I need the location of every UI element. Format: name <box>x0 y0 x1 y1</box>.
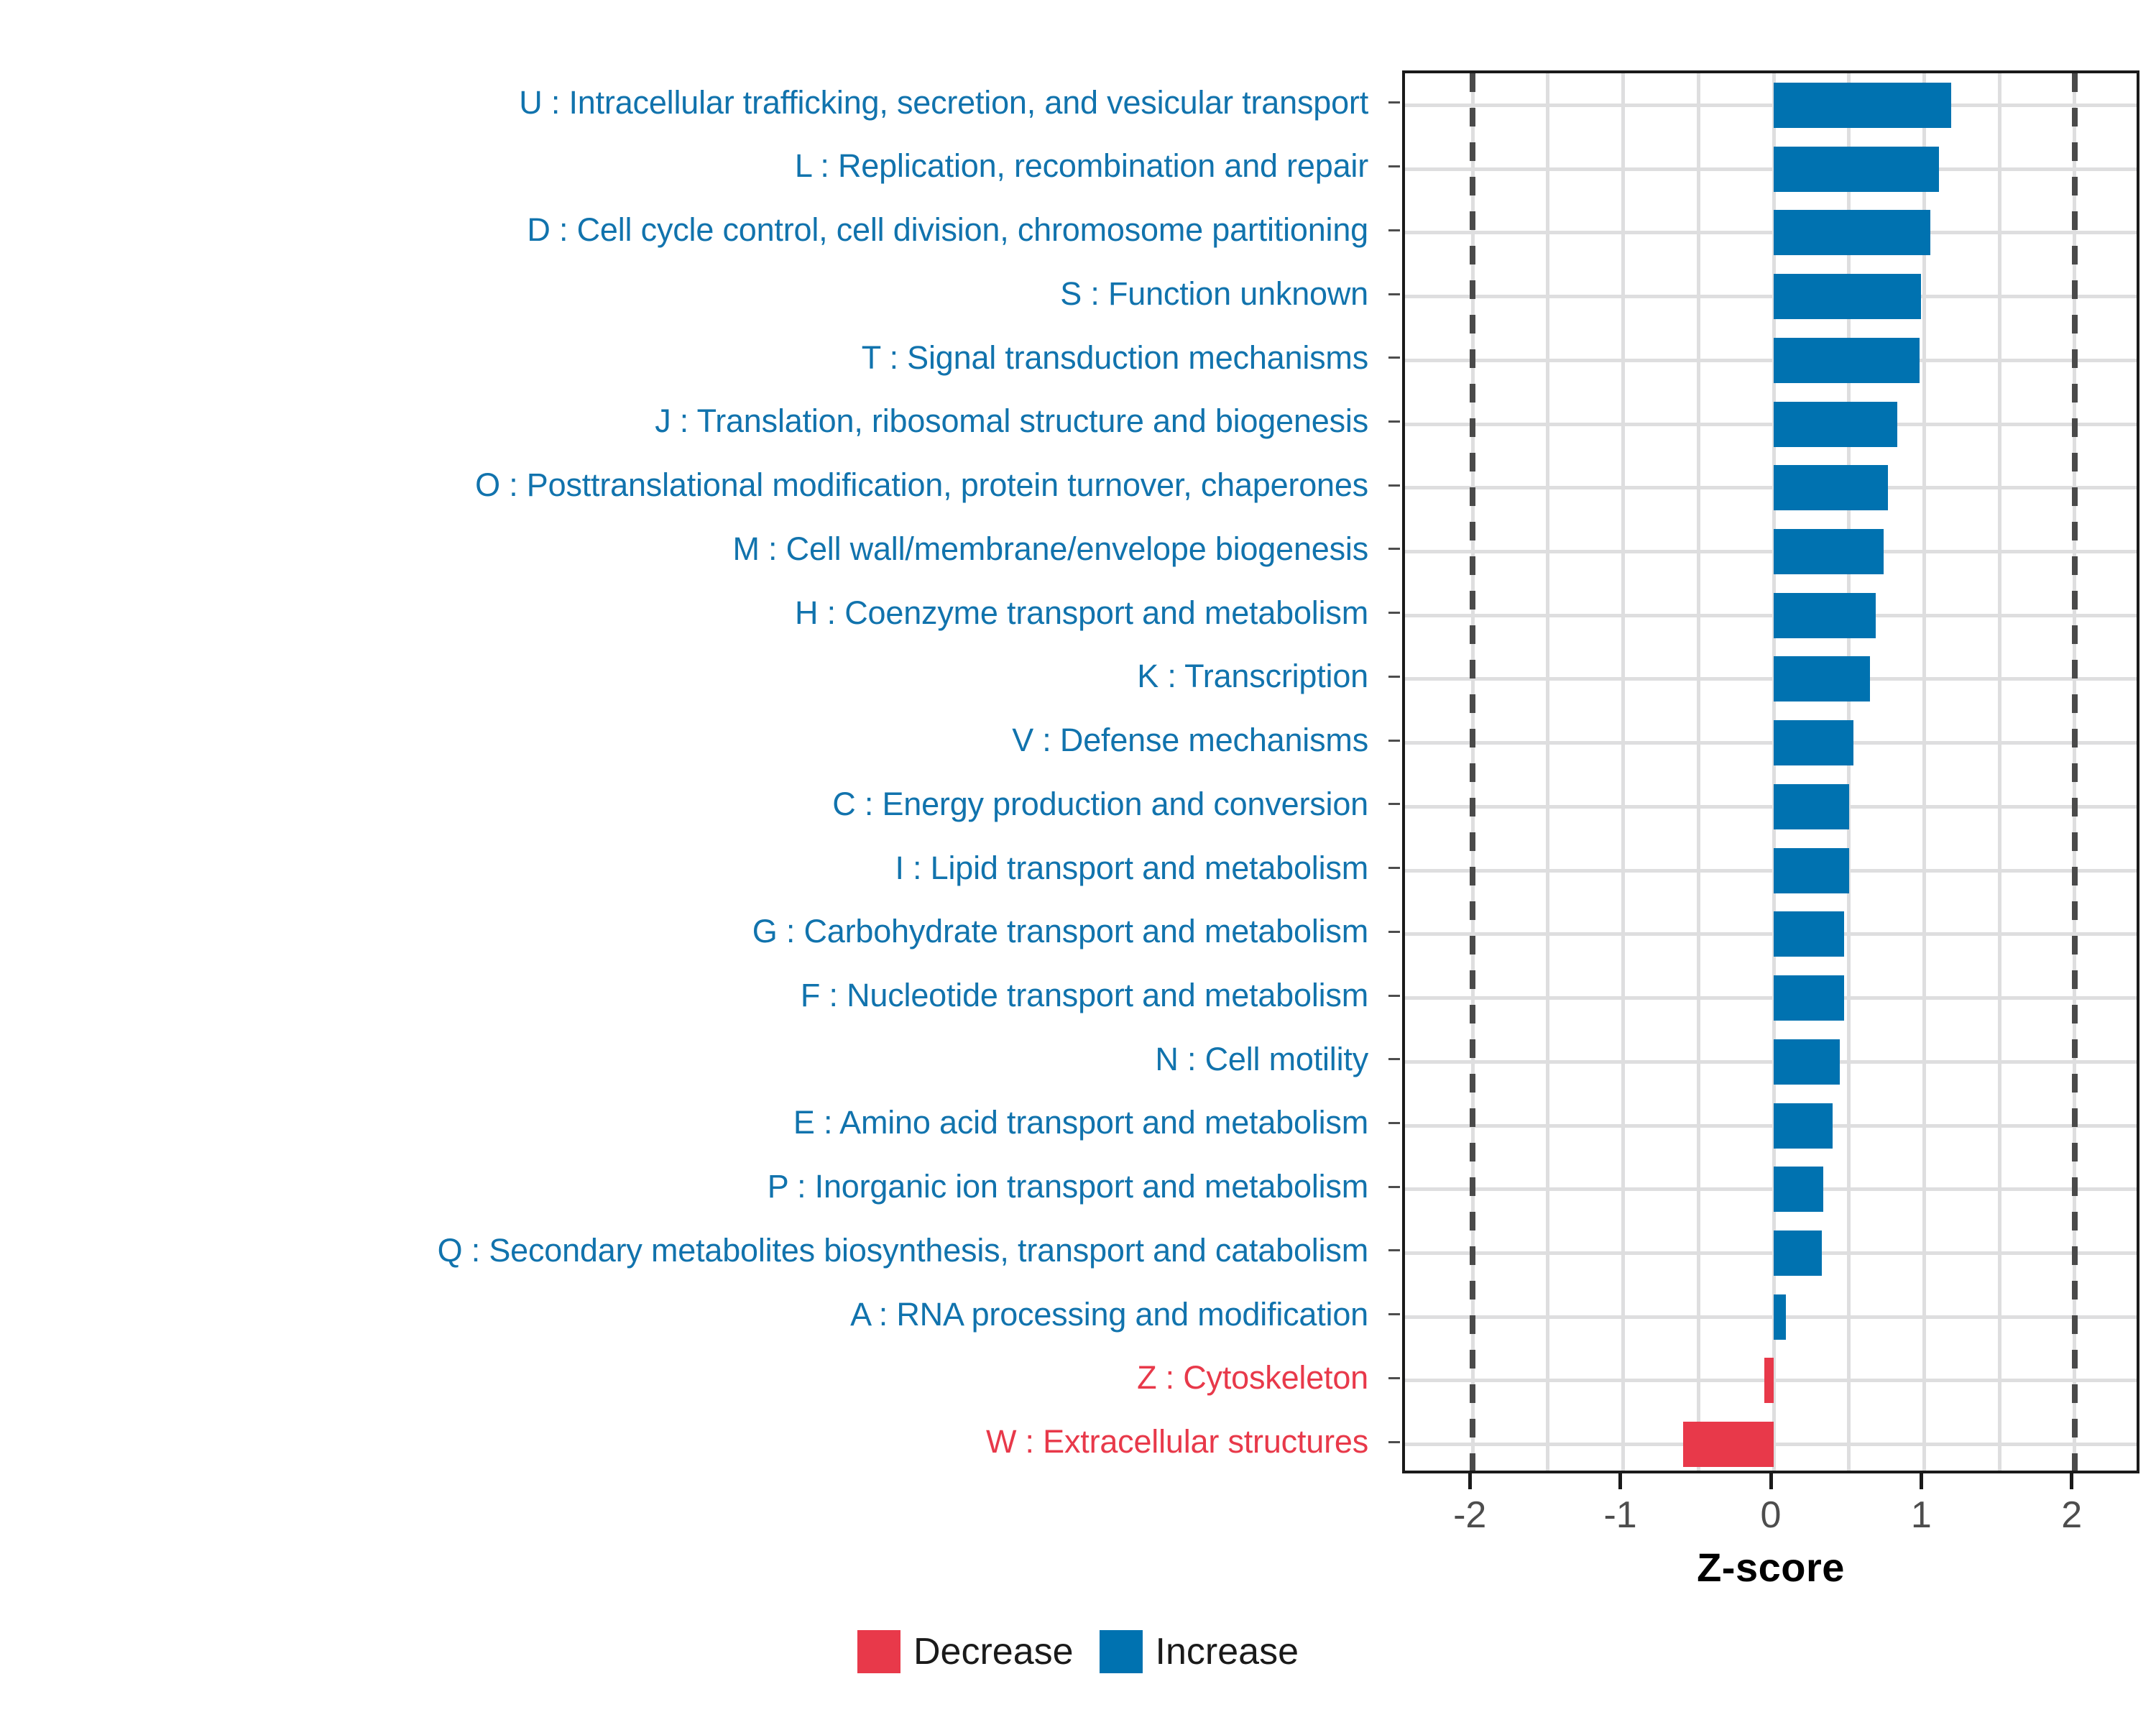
bar[interactable] <box>1774 720 1853 765</box>
horizontal-gridline <box>1405 1187 2137 1191</box>
legend: DecreaseIncrease <box>0 1630 2156 1673</box>
horizontal-gridline <box>1405 805 2137 809</box>
x-axis-tick <box>1920 1473 1923 1489</box>
bar[interactable] <box>1764 1358 1774 1403</box>
x-axis-tick-label: -1 <box>1570 1494 1671 1537</box>
y-axis-tick <box>1388 995 1400 997</box>
category-label: T : Signal transduction mechanisms <box>862 341 1368 374</box>
y-axis-tick <box>1388 1249 1400 1251</box>
category-label-column: U : Intracellular trafficking, secretion… <box>0 70 1387 1473</box>
horizontal-gridline <box>1405 996 2137 1000</box>
y-axis-tick <box>1388 293 1400 295</box>
legend-swatch <box>857 1630 900 1673</box>
y-axis-tick <box>1388 356 1400 359</box>
bar[interactable] <box>1683 1422 1774 1467</box>
x-axis-tick <box>1618 1473 1622 1489</box>
legend-label: Increase <box>1156 1630 1299 1673</box>
horizontal-gridline <box>1405 741 2137 745</box>
bar[interactable] <box>1774 656 1870 701</box>
bar[interactable] <box>1774 402 1897 447</box>
y-axis-tick <box>1388 803 1400 805</box>
category-label: O : Posttranslational modification, prot… <box>475 468 1368 502</box>
category-label-row: M : Cell wall/membrane/envelope biogenes… <box>0 517 1387 581</box>
category-label-row: K : Transcription <box>0 645 1387 709</box>
x-axis-tick-label: 0 <box>1720 1494 1821 1537</box>
category-label: G : Carbohydrate transport and metabolis… <box>752 914 1368 948</box>
legend-item[interactable]: Increase <box>1100 1630 1299 1673</box>
category-label: I : Lipid transport and metabolism <box>895 851 1368 885</box>
x-axis-tick-label: -2 <box>1419 1494 1520 1537</box>
category-label-row: E : Amino acid transport and metabolism <box>0 1091 1387 1155</box>
bar[interactable] <box>1774 465 1888 510</box>
plot-panel <box>1402 70 2139 1473</box>
category-label: D : Cell cycle control, cell division, c… <box>527 213 1368 247</box>
vertical-gridline <box>1621 73 1625 1471</box>
legend-item[interactable]: Decrease <box>857 1630 1074 1673</box>
category-label: A : RNA processing and modification <box>850 1297 1368 1331</box>
category-label-row: U : Intracellular trafficking, secretion… <box>0 70 1387 134</box>
y-axis-tick <box>1388 1122 1400 1124</box>
category-label-row: C : Energy production and conversion <box>0 772 1387 836</box>
horizontal-gridline <box>1405 231 2137 234</box>
bar[interactable] <box>1774 1230 1822 1276</box>
reference-line <box>1470 73 1475 1471</box>
x-axis-tick-label: 1 <box>1871 1494 1971 1537</box>
horizontal-gridline <box>1405 677 2137 681</box>
horizontal-gridline <box>1405 1060 2137 1064</box>
horizontal-gridline <box>1405 103 2137 107</box>
category-label-row: Z : Cytoskeleton <box>0 1346 1387 1410</box>
bar[interactable] <box>1774 147 1939 192</box>
vertical-gridline <box>1998 73 2001 1471</box>
reference-line <box>2072 73 2078 1471</box>
category-label-row: H : Coenzyme transport and metabolism <box>0 581 1387 645</box>
category-label-row: O : Posttranslational modification, prot… <box>0 453 1387 517</box>
y-axis-tick <box>1388 165 1400 167</box>
category-label: M : Cell wall/membrane/envelope biogenes… <box>732 532 1368 566</box>
category-label: C : Energy production and conversion <box>832 787 1368 821</box>
horizontal-gridline <box>1405 486 2137 489</box>
y-axis-tick <box>1388 548 1400 550</box>
bar[interactable] <box>1774 784 1849 829</box>
category-label: Z : Cytoskeleton <box>1137 1361 1368 1394</box>
bar[interactable] <box>1774 338 1920 383</box>
bar[interactable] <box>1774 1167 1823 1212</box>
category-label-row: G : Carbohydrate transport and metabolis… <box>0 900 1387 964</box>
x-axis-tick <box>2070 1473 2073 1489</box>
bar[interactable] <box>1774 274 1921 319</box>
x-axis-tick <box>1468 1473 1472 1489</box>
vertical-gridline <box>1697 73 1700 1471</box>
category-label: J : Translation, ribosomal structure and… <box>655 404 1368 438</box>
vertical-gridline <box>1922 73 1926 1471</box>
category-label: S : Function unknown <box>1060 277 1368 310</box>
bar[interactable] <box>1774 210 1930 255</box>
legend-label: Decrease <box>913 1630 1074 1673</box>
chart-root: U : Intracellular trafficking, secretion… <box>0 0 2156 1725</box>
category-label-row: N : Cell motility <box>0 1027 1387 1091</box>
legend-swatch <box>1100 1630 1143 1673</box>
y-axis-tick <box>1388 867 1400 869</box>
category-label-row: F : Nucleotide transport and metabolism <box>0 963 1387 1027</box>
bar[interactable] <box>1774 848 1849 893</box>
y-axis-tick <box>1388 676 1400 678</box>
y-axis-tick <box>1388 612 1400 614</box>
category-label-row: L : Replication, recombination and repai… <box>0 134 1387 198</box>
y-axis-tick <box>1388 484 1400 487</box>
category-label: U : Intracellular trafficking, secretion… <box>519 86 1368 119</box>
category-label: V : Defense mechanisms <box>1012 723 1368 757</box>
bar[interactable] <box>1774 1103 1833 1149</box>
category-label: P : Inorganic ion transport and metaboli… <box>768 1169 1368 1203</box>
horizontal-gridline <box>1405 1124 2137 1128</box>
y-axis-tick <box>1388 229 1400 231</box>
horizontal-gridline <box>1405 614 2137 617</box>
category-label: L : Replication, recombination and repai… <box>795 149 1368 183</box>
x-axis-tick-label: 2 <box>2022 1494 2122 1537</box>
y-axis-tick <box>1388 1313 1400 1315</box>
bar[interactable] <box>1774 83 1951 128</box>
category-label: Q : Secondary metabolites biosynthesis, … <box>438 1233 1368 1267</box>
horizontal-gridline <box>1405 869 2137 873</box>
y-axis-tick <box>1388 1186 1400 1188</box>
y-axis-tick <box>1388 1377 1400 1379</box>
category-label: F : Nucleotide transport and metabolism <box>801 978 1368 1012</box>
category-label: W : Extracellular structures <box>986 1425 1368 1458</box>
category-label-row: I : Lipid transport and metabolism <box>0 836 1387 900</box>
horizontal-gridline <box>1405 167 2137 171</box>
bar[interactable] <box>1774 975 1844 1021</box>
y-axis-tick <box>1388 420 1400 423</box>
category-label-row: T : Signal transduction mechanisms <box>0 326 1387 390</box>
vertical-gridline <box>1546 73 1549 1471</box>
category-label-row: D : Cell cycle control, cell division, c… <box>0 198 1387 262</box>
category-label-row: Q : Secondary metabolites biosynthesis, … <box>0 1218 1387 1282</box>
category-label-row: V : Defense mechanisms <box>0 708 1387 772</box>
category-label-row: W : Extracellular structures <box>0 1409 1387 1473</box>
category-label: E : Amino acid transport and metabolism <box>793 1105 1368 1139</box>
x-axis-title: Z-score <box>1402 1544 2139 1591</box>
y-axis-tick <box>1388 1441 1400 1443</box>
horizontal-gridline <box>1405 423 2137 426</box>
category-label-row: A : RNA processing and modification <box>0 1282 1387 1346</box>
y-axis-tick <box>1388 101 1400 103</box>
horizontal-gridline <box>1405 1251 2137 1255</box>
category-label-row: S : Function unknown <box>0 262 1387 326</box>
bar[interactable] <box>1774 1039 1840 1085</box>
y-axis-tick <box>1388 931 1400 933</box>
bar[interactable] <box>1774 529 1884 574</box>
category-label: N : Cell motility <box>1155 1042 1368 1076</box>
y-axis-tick <box>1388 740 1400 742</box>
horizontal-gridline <box>1405 932 2137 936</box>
bar[interactable] <box>1774 1294 1786 1340</box>
x-axis-tick <box>1769 1473 1773 1489</box>
category-label-row: P : Inorganic ion transport and metaboli… <box>0 1154 1387 1218</box>
bar[interactable] <box>1774 911 1844 957</box>
category-label: H : Coenzyme transport and metabolism <box>795 596 1368 630</box>
category-label-row: J : Translation, ribosomal structure and… <box>0 390 1387 454</box>
category-label: K : Transcription <box>1137 659 1368 693</box>
y-axis-tick <box>1388 1058 1400 1060</box>
bar[interactable] <box>1774 593 1876 638</box>
horizontal-gridline <box>1405 550 2137 553</box>
horizontal-gridline <box>1405 1315 2137 1319</box>
horizontal-gridline <box>1405 295 2137 298</box>
horizontal-gridline <box>1405 359 2137 362</box>
